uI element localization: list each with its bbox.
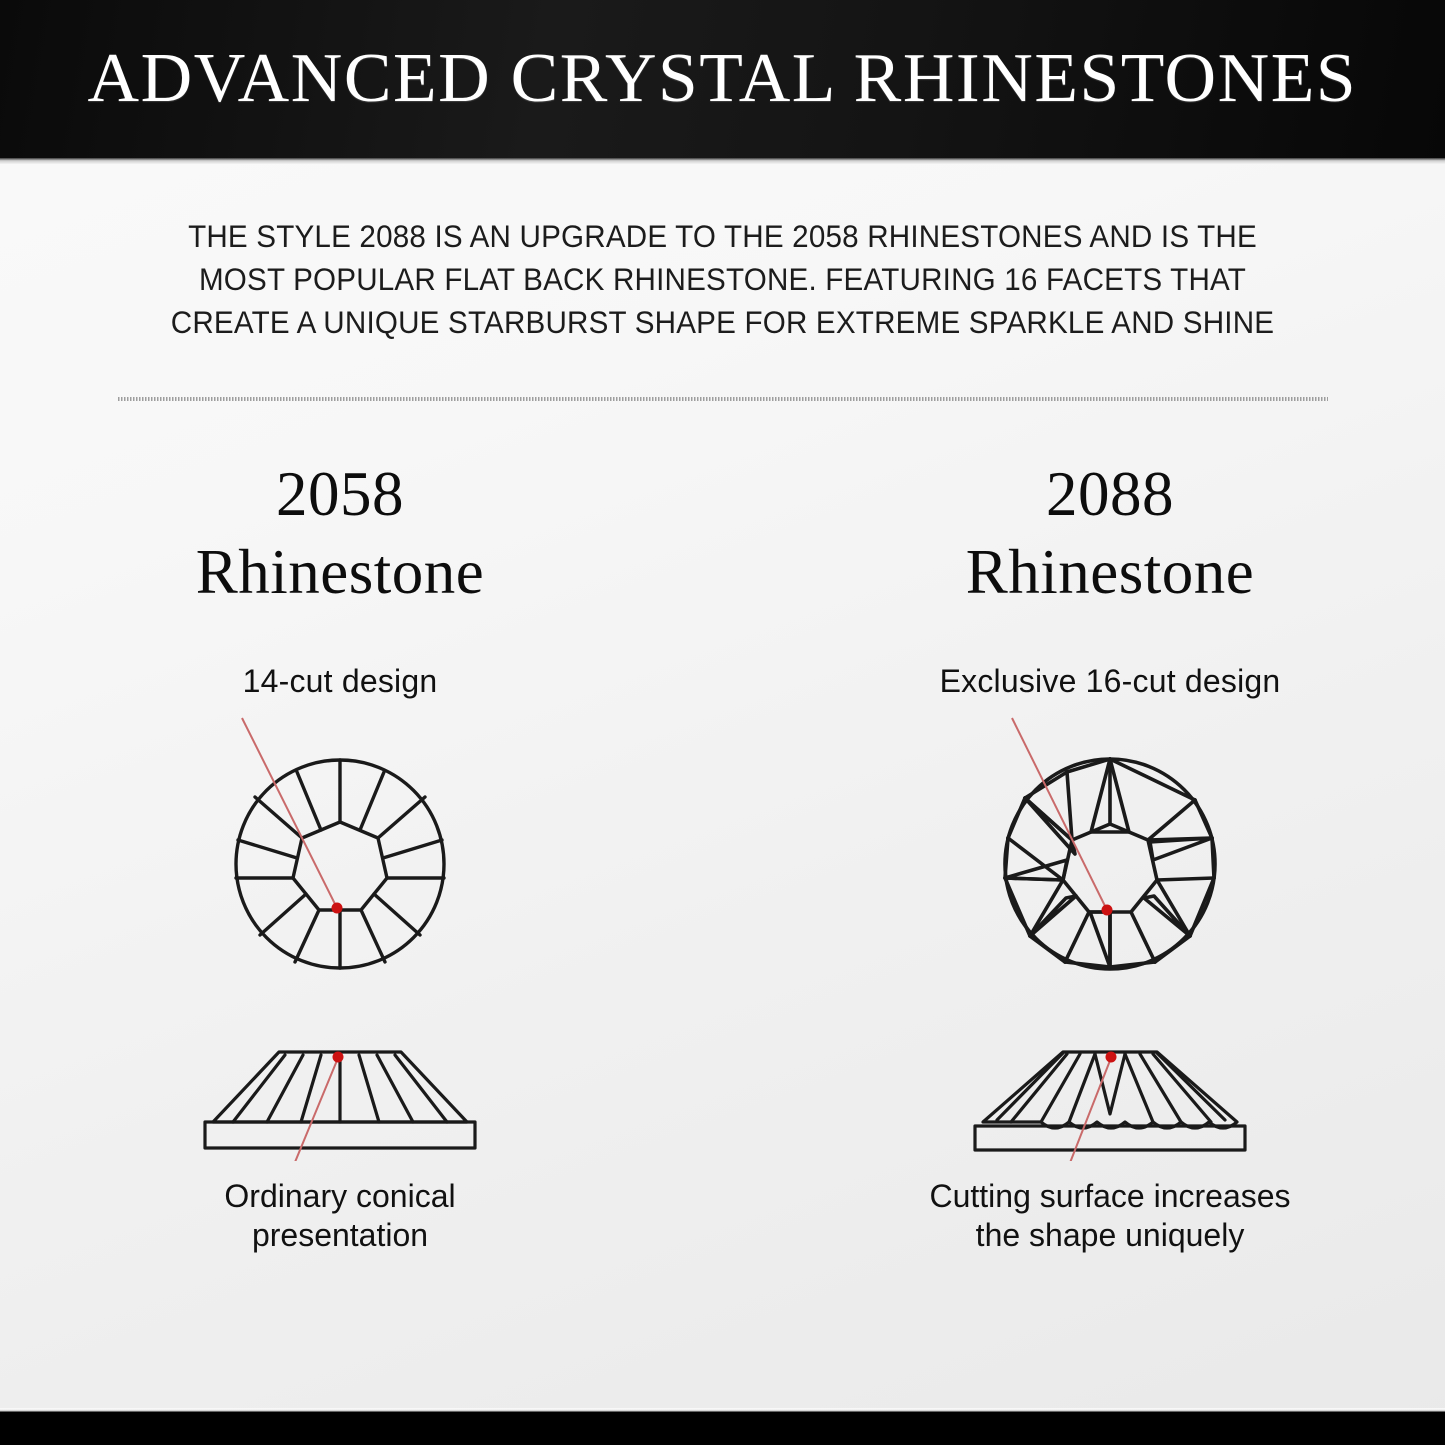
caption-2088: Cutting surface increases the shape uniq… (790, 1177, 1430, 1255)
gem-title-number-2088: 2088 (790, 455, 1430, 533)
pointer-dot-2088-side (1106, 1052, 1117, 1063)
caption-2058: Ordinary conical presentation (20, 1177, 660, 1255)
cut-label-2058: 14-cut design (20, 663, 660, 700)
column-2058: 2058 Rhinestone 14-cut design (20, 455, 660, 1255)
footer-bar (0, 1412, 1445, 1445)
cut-label-2088: Exclusive 16-cut design (790, 663, 1430, 700)
gem-title-2088: 2088 Rhinestone (790, 455, 1430, 611)
caption-2058-line-1: Ordinary conical (20, 1177, 660, 1216)
intro-line-3: CREATE A UNIQUE STARBURST SHAPE FOR EXTR… (133, 301, 1313, 344)
header-banner: ADVANCED CRYSTAL RHINESTONES (0, 0, 1445, 158)
pointer-line-2058 (242, 718, 343, 914)
column-2088: 2088 Rhinestone Exclusive 16-cut design (790, 455, 1430, 1255)
gem-top-view-2058-wrap (20, 714, 660, 982)
section-divider (118, 397, 1328, 401)
gem-top-view-14-cut-icon (180, 714, 500, 982)
gem-side-view-2088-wrap (790, 1036, 1430, 1161)
intro-line-1: THE STYLE 2088 IS AN UPGRADE TO THE 2058… (133, 215, 1313, 258)
pointer-line-2058-side (281, 1052, 344, 1162)
pointer-dot-2058 (332, 903, 343, 914)
gem-title-2058: 2058 Rhinestone (20, 455, 660, 611)
caption-2088-line-1: Cutting surface increases (790, 1177, 1430, 1216)
caption-2088-line-2: the shape uniquely (790, 1216, 1430, 1255)
gem-side-view-starburst-icon (945, 1036, 1275, 1161)
gem-title-word-2058: Rhinestone (20, 533, 660, 611)
pointer-line-2088 (1012, 718, 1113, 916)
page-title: ADVANCED CRYSTAL RHINESTONES (88, 39, 1358, 119)
header-underline (0, 158, 1445, 164)
caption-2058-line-2: presentation (20, 1216, 660, 1255)
gem-title-number-2058: 2058 (20, 455, 660, 533)
gem-side-view-2058-wrap (20, 1036, 660, 1161)
intro-line-2: MOST POPULAR FLAT BACK RHINESTONE. FEATU… (133, 258, 1313, 301)
pointer-dot-2058-side (333, 1052, 344, 1063)
pointer-dot-2088 (1102, 905, 1113, 916)
gem-top-view-16-cut-starburst-icon (950, 714, 1270, 982)
intro-paragraph: THE STYLE 2088 IS AN UPGRADE TO THE 2058… (0, 215, 1445, 344)
gem-top-view-2088-wrap (790, 714, 1430, 982)
gem-title-word-2088: Rhinestone (790, 533, 1430, 611)
gem-side-view-conical-icon (175, 1036, 505, 1161)
infographic-page: ADVANCED CRYSTAL RHINESTONES THE STYLE 2… (0, 0, 1445, 1445)
